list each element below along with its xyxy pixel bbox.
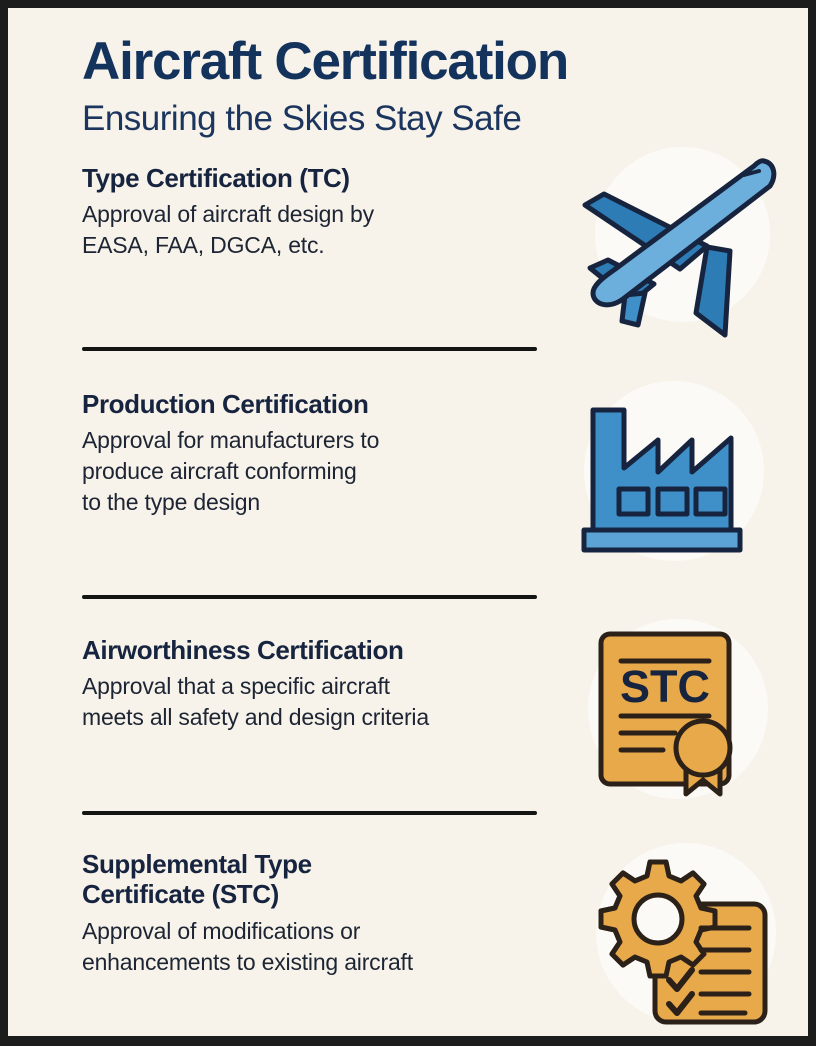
section-divider: [82, 595, 537, 599]
section-body: Approval that a specific aircraft meets …: [82, 671, 552, 732]
section-body-line: EASA, FAA, DGCA, etc.: [82, 230, 552, 261]
airplane-icon: [568, 153, 783, 338]
section-body: Approval for manufacturers to produce ai…: [82, 425, 552, 517]
section-heading: Production Certification: [82, 389, 552, 420]
section-body-line: Approval of modifications or: [82, 916, 552, 947]
certificate-label: STC: [620, 661, 710, 712]
section-text-block: Production Certification Approval for ma…: [82, 389, 552, 517]
section-airworthiness-certification: Airworthiness Certification Approval tha…: [8, 635, 808, 795]
section-body-line: enhancements to existing aircraft: [82, 947, 552, 978]
icon-well: [556, 377, 786, 577]
section-body-line: Approval for manufacturers to: [82, 425, 552, 456]
section-heading-line: Certificate (STC): [82, 879, 552, 910]
section-body: Approval of modifications or enhancement…: [82, 916, 552, 977]
section-body-line: meets all safety and design criteria: [82, 702, 552, 733]
section-supplemental-type-certificate: Supplemental Type Certificate (STC) Appr…: [8, 849, 808, 1029]
icon-well: [560, 141, 790, 351]
infographic-header: Aircraft Certification Ensuring the Skie…: [8, 8, 808, 139]
section-body-line: Approval of aircraft design by: [82, 199, 552, 230]
section-text-block: Supplemental Type Certificate (STC) Appr…: [82, 849, 552, 978]
section-body-line: Approval that a specific aircraft: [82, 671, 552, 702]
section-text-block: Type Certification (TC) Approval of airc…: [82, 163, 552, 261]
infographic-frame: Aircraft Certification Ensuring the Skie…: [8, 8, 808, 1036]
gear-checklist-icon: [593, 856, 773, 1026]
section-divider: [82, 347, 537, 351]
page-subtitle: Ensuring the Skies Stay Safe: [82, 100, 808, 139]
section-heading: Airworthiness Certification: [82, 635, 552, 666]
section-production-certification: Production Certification Approval for ma…: [8, 389, 808, 579]
section-divider: [82, 811, 537, 815]
section-heading-line: Supplemental Type: [82, 849, 552, 880]
section-body: Approval of aircraft design by EASA, FAA…: [82, 199, 552, 260]
icon-well: [568, 841, 798, 1036]
section-body-line: to the type design: [82, 487, 552, 518]
certificate-icon: STC: [593, 626, 753, 801]
section-type-certification: Type Certification (TC) Approval of airc…: [8, 163, 808, 331]
factory-icon: [579, 397, 764, 557]
page-title: Aircraft Certification: [82, 34, 808, 90]
section-heading: Type Certification (TC): [82, 163, 552, 194]
section-heading: Supplemental Type Certificate (STC): [82, 849, 552, 910]
icon-well: STC: [558, 611, 788, 816]
section-text-block: Airworthiness Certification Approval tha…: [82, 635, 552, 733]
section-body-line: produce aircraft conforming: [82, 456, 552, 487]
